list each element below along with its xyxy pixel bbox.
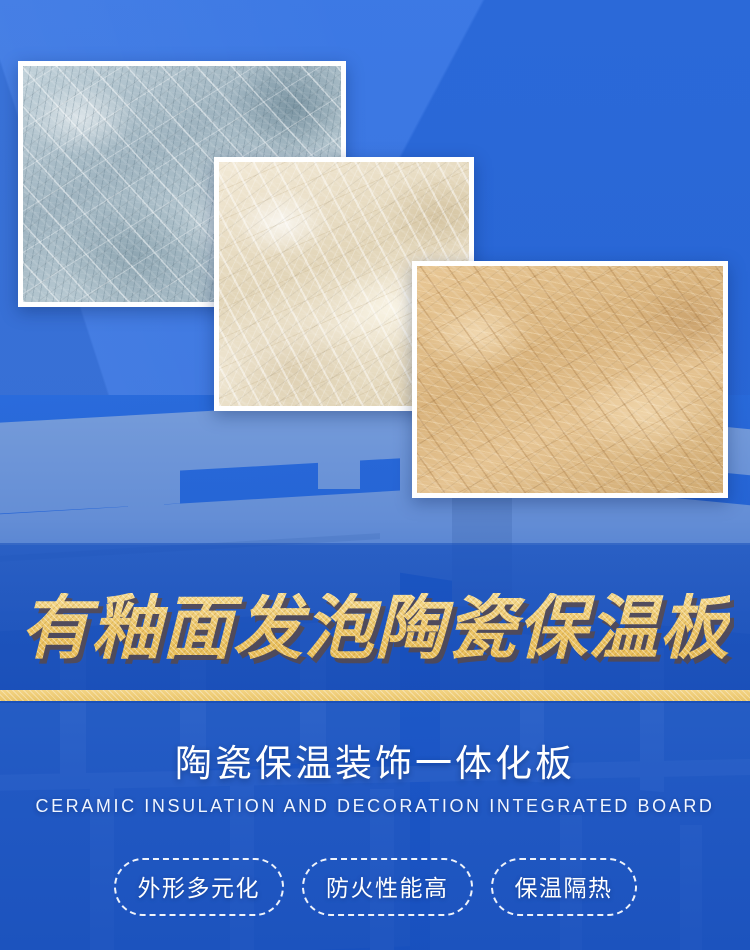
main-title: 有釉面发泡陶瓷保温板: [20, 593, 730, 663]
main-title-container: 有釉面发泡陶瓷保温板: [0, 578, 750, 678]
feature-pill-list: 外形多元化 防火性能高 保温隔热: [0, 858, 750, 916]
feature-pill-1[interactable]: 外形多元化: [114, 858, 285, 916]
feature-pill-2[interactable]: 防火性能高: [302, 858, 473, 916]
tile-sample-3-image: [417, 266, 723, 493]
subtitle-english: CERAMIC INSULATION AND DECORATION INTEGR…: [0, 797, 750, 817]
tile-sample-3[interactable]: [412, 261, 728, 498]
subtitle-chinese: 陶瓷保温装饰一体化板: [0, 744, 750, 785]
gold-divider-rule: [0, 690, 750, 701]
feature-pill-3[interactable]: 保温隔热: [491, 858, 637, 916]
promo-banner: 有釉面发泡陶瓷保温板 陶瓷保温装饰一体化板 CERAMIC INSULATION…: [0, 0, 750, 950]
